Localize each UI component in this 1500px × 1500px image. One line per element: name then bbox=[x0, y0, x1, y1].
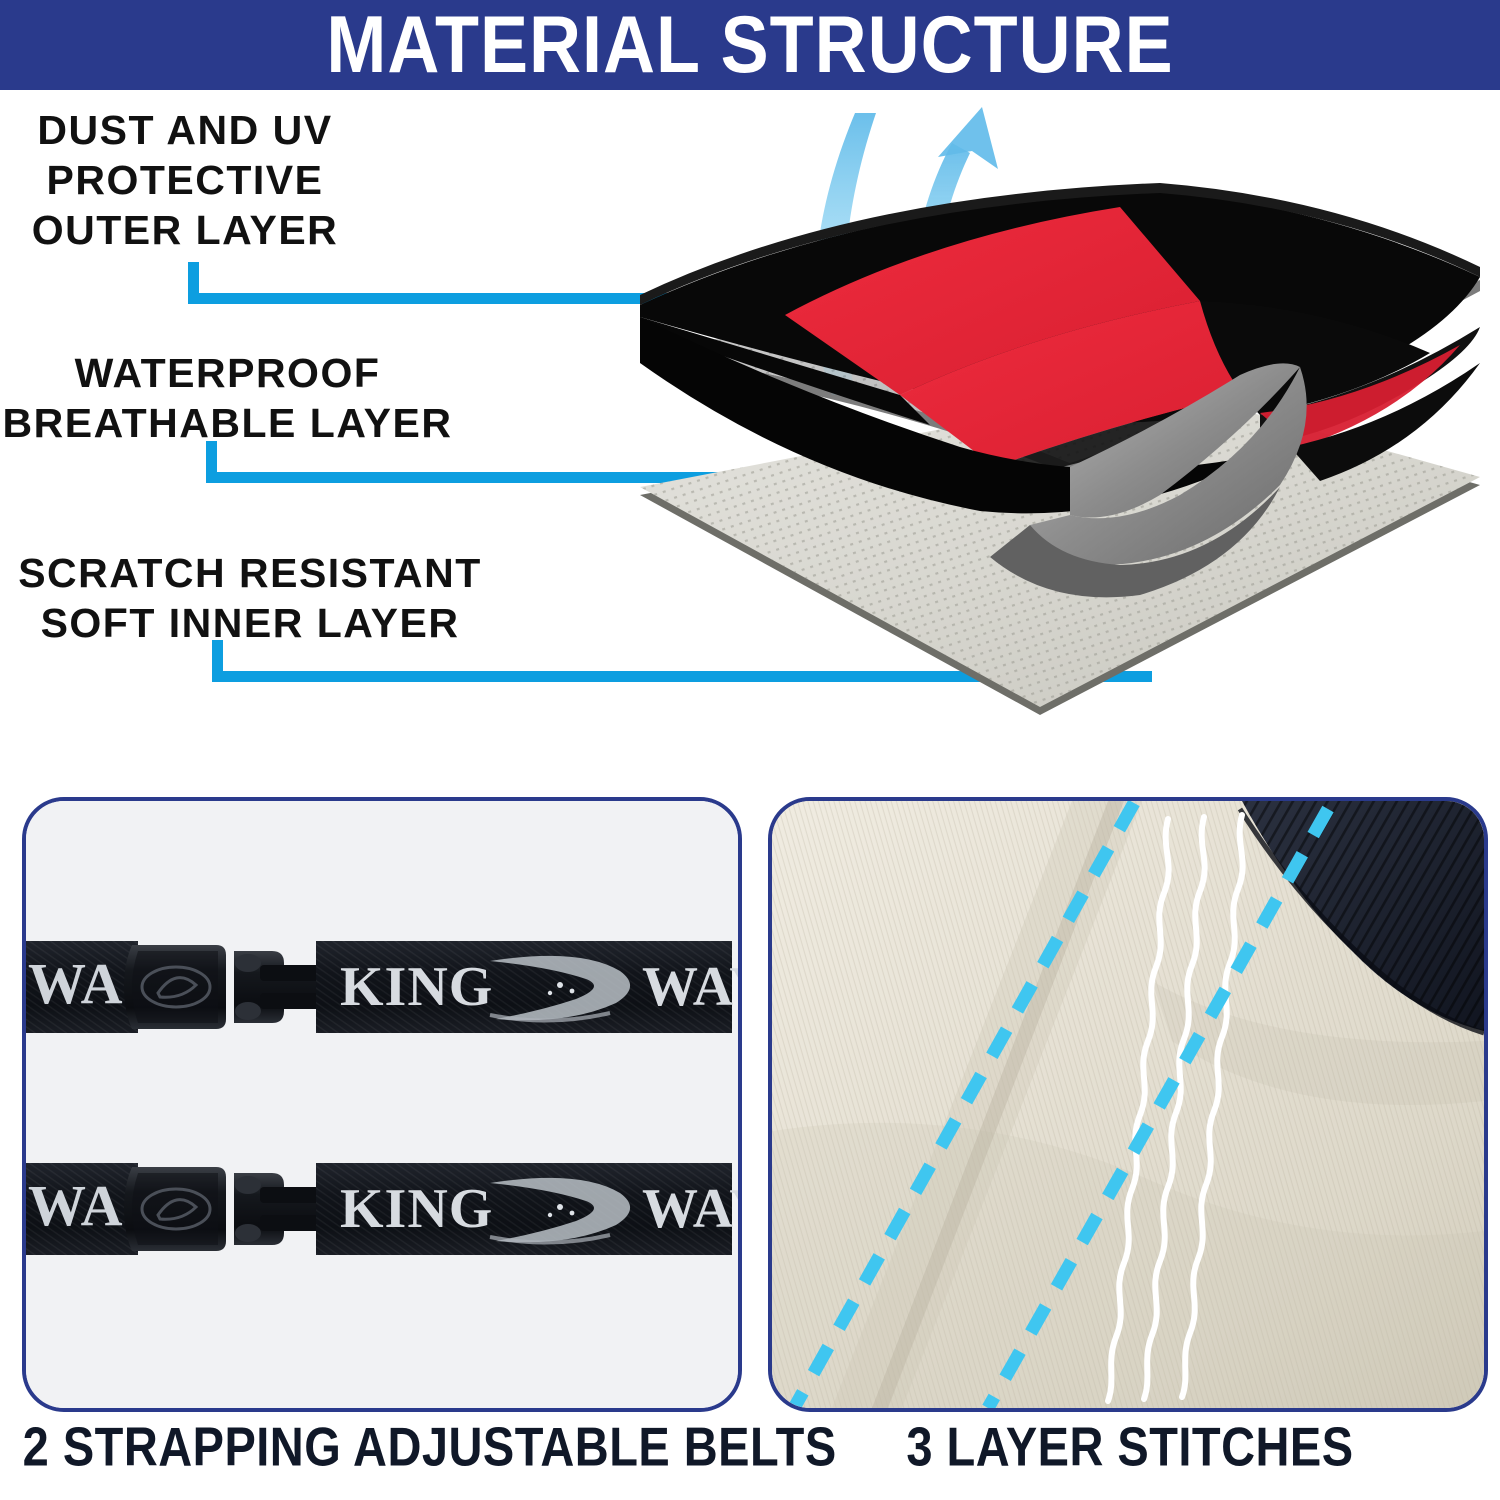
list-item bbox=[26, 1163, 738, 1255]
adjustable-belt-photo: WA bbox=[26, 801, 738, 1408]
header-banner: MATERIAL STRUCTURE bbox=[0, 0, 1500, 90]
panel-adjustable-belts: WA bbox=[22, 797, 742, 1412]
label-outer-layer: DUST AND UV PROTECTIVE OUTER LAYER bbox=[0, 105, 370, 255]
label-inner-layer: SCRATCH RESISTANT SOFT INNER LAYER bbox=[0, 548, 500, 648]
material-layers-illustration bbox=[600, 95, 1500, 755]
page-title: MATERIAL STRUCTURE bbox=[0, 0, 1500, 95]
infographic-root: MATERIAL STRUCTURE DUST AND UV PROTECTIV… bbox=[0, 0, 1500, 1500]
caption-layer-stitches: 3 LAYER STITCHES bbox=[782, 1415, 1478, 1479]
list-item bbox=[26, 941, 738, 1033]
triple-stitched-seam-photo bbox=[772, 801, 1484, 1408]
panel-layer-stitches bbox=[768, 797, 1488, 1412]
caption-adjustable-belts: 2 STRAPPING ADJUSTABLE BELTS bbox=[23, 1415, 734, 1479]
label-waterproof-layer: WATERPROOF BREATHABLE LAYER bbox=[0, 348, 455, 448]
